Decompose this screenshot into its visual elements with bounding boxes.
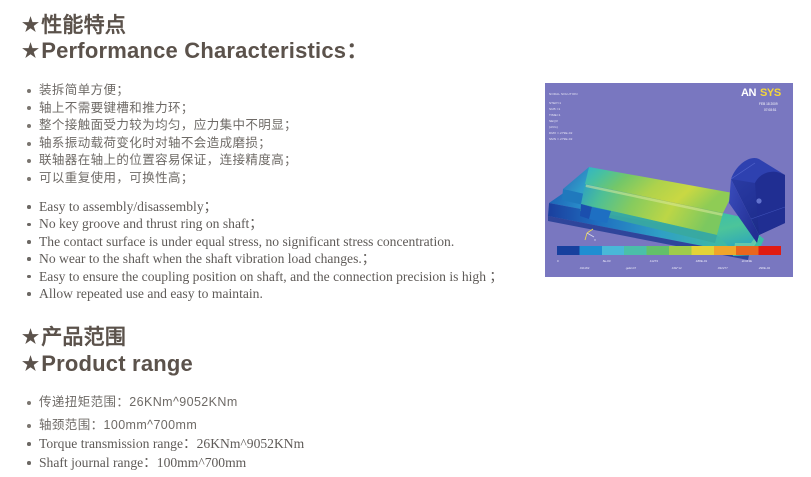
svg-text:DMX =.279E-02: DMX =.279E-02 bbox=[549, 131, 573, 135]
ansys-fea-figure: NODAL SOLUTION STEP=1 SUB =1 TIME=1 SEQV… bbox=[545, 83, 793, 277]
svg-text:FEB 18 2009: FEB 18 2009 bbox=[759, 102, 778, 106]
list-item: The contact surface is under equal stres… bbox=[26, 233, 503, 250]
svg-text:NODAL SOLUTION: NODAL SOLUTION bbox=[549, 92, 578, 96]
svg-text:07:08:51: 07:08:51 bbox=[764, 108, 777, 112]
performance-heading-en: ★Performance Characteristics： bbox=[22, 38, 368, 65]
svg-text:.8e-03: .8e-03 bbox=[602, 259, 611, 263]
svg-text:STEP=1: STEP=1 bbox=[549, 101, 561, 105]
list-item: 轴上不需要键槽和推力环； bbox=[26, 100, 297, 118]
product-range-bullets-cn: 传递扭矩范围：26KNm^9052KNm 轴颈范围：100mm^700mm bbox=[26, 391, 238, 437]
svg-text:.2c343E: .2c343E bbox=[741, 259, 752, 263]
performance-heading-cn-text: 性能特点 bbox=[41, 14, 126, 37]
poster-page: ★性能特点 ★Performance Characteristics： 装拆简单… bbox=[0, 0, 811, 477]
product-range-heading-en-text: Product range bbox=[41, 351, 193, 376]
list-item: 整个接触面受力较为均匀，应力集中不明显； bbox=[26, 117, 297, 135]
list-item: 轴系振动载荷变化时对轴不会造成磨损； bbox=[26, 135, 297, 153]
list-item: No wear to the shaft when the shaft vibr… bbox=[26, 250, 503, 267]
performance-heading-en-text: Performance Characteristics： bbox=[41, 38, 368, 63]
svg-text:TIME=1: TIME=1 bbox=[549, 113, 561, 117]
list-item: Allow repeated use and easy to maintain. bbox=[26, 285, 503, 302]
svg-text:SYS: SYS bbox=[760, 87, 781, 99]
svg-text:.032277: .032277 bbox=[717, 266, 728, 270]
svg-text:.16E*12: .16E*12 bbox=[671, 266, 682, 270]
list-item: Easy to assembly/disassembly； bbox=[26, 198, 503, 215]
svg-text:.011182: .011182 bbox=[579, 266, 590, 270]
svg-text:.geE147: .geE147 bbox=[625, 266, 637, 270]
product-range-heading-en: ★Product range bbox=[22, 351, 193, 378]
list-item: Easy to ensure the coupling position on … bbox=[26, 268, 503, 285]
product-range-heading-cn-text: 产品范围 bbox=[41, 326, 126, 349]
star-icon: ★ bbox=[22, 14, 39, 38]
product-range-bullets-en: Torque transmission range：26KNm^9052KNm … bbox=[26, 434, 304, 472]
svg-text:SEQV: SEQV bbox=[549, 119, 559, 123]
list-item: 装拆简单方便； bbox=[26, 82, 297, 100]
performance-bullets-en: Easy to assembly/disassembly； No key gro… bbox=[26, 198, 503, 302]
performance-heading-cn: ★性能特点 bbox=[22, 14, 126, 38]
list-item: No key groove and thrust ring on shaft； bbox=[26, 215, 503, 232]
star-icon: ★ bbox=[22, 352, 39, 378]
product-range-heading-cn: ★产品范围 bbox=[22, 326, 126, 350]
svg-text:.298E-02: .298E-02 bbox=[758, 266, 771, 270]
list-item: 联轴器在轴上的位置容易保证，连接精度高； bbox=[26, 152, 297, 170]
star-icon: ★ bbox=[22, 326, 39, 350]
svg-text:(AVG): (AVG) bbox=[549, 125, 558, 129]
star-icon: ★ bbox=[22, 39, 39, 65]
performance-bullets-cn: 装拆简单方便； 轴上不需要键槽和推力环； 整个接触面受力较为均匀，应力集中不明显… bbox=[26, 82, 297, 188]
list-item: 可以重复使用，可换性高； bbox=[26, 170, 297, 188]
list-item: Shaft journal range：100mm^700mm bbox=[26, 453, 304, 472]
colorbar bbox=[557, 246, 781, 255]
svg-text:SMN =.279E-02: SMN =.279E-02 bbox=[549, 137, 573, 141]
svg-text:SUB =1: SUB =1 bbox=[549, 107, 561, 111]
svg-text:.11273: .11273 bbox=[649, 259, 658, 263]
svg-text:X: X bbox=[594, 238, 596, 242]
list-item: 传递扭矩范围：26KNm^9052KNm bbox=[26, 391, 238, 414]
svg-text:AN: AN bbox=[741, 87, 757, 99]
svg-text:.188E-01: .188E-01 bbox=[695, 259, 708, 263]
list-item: Torque transmission range：26KNm^9052KNm bbox=[26, 434, 304, 453]
